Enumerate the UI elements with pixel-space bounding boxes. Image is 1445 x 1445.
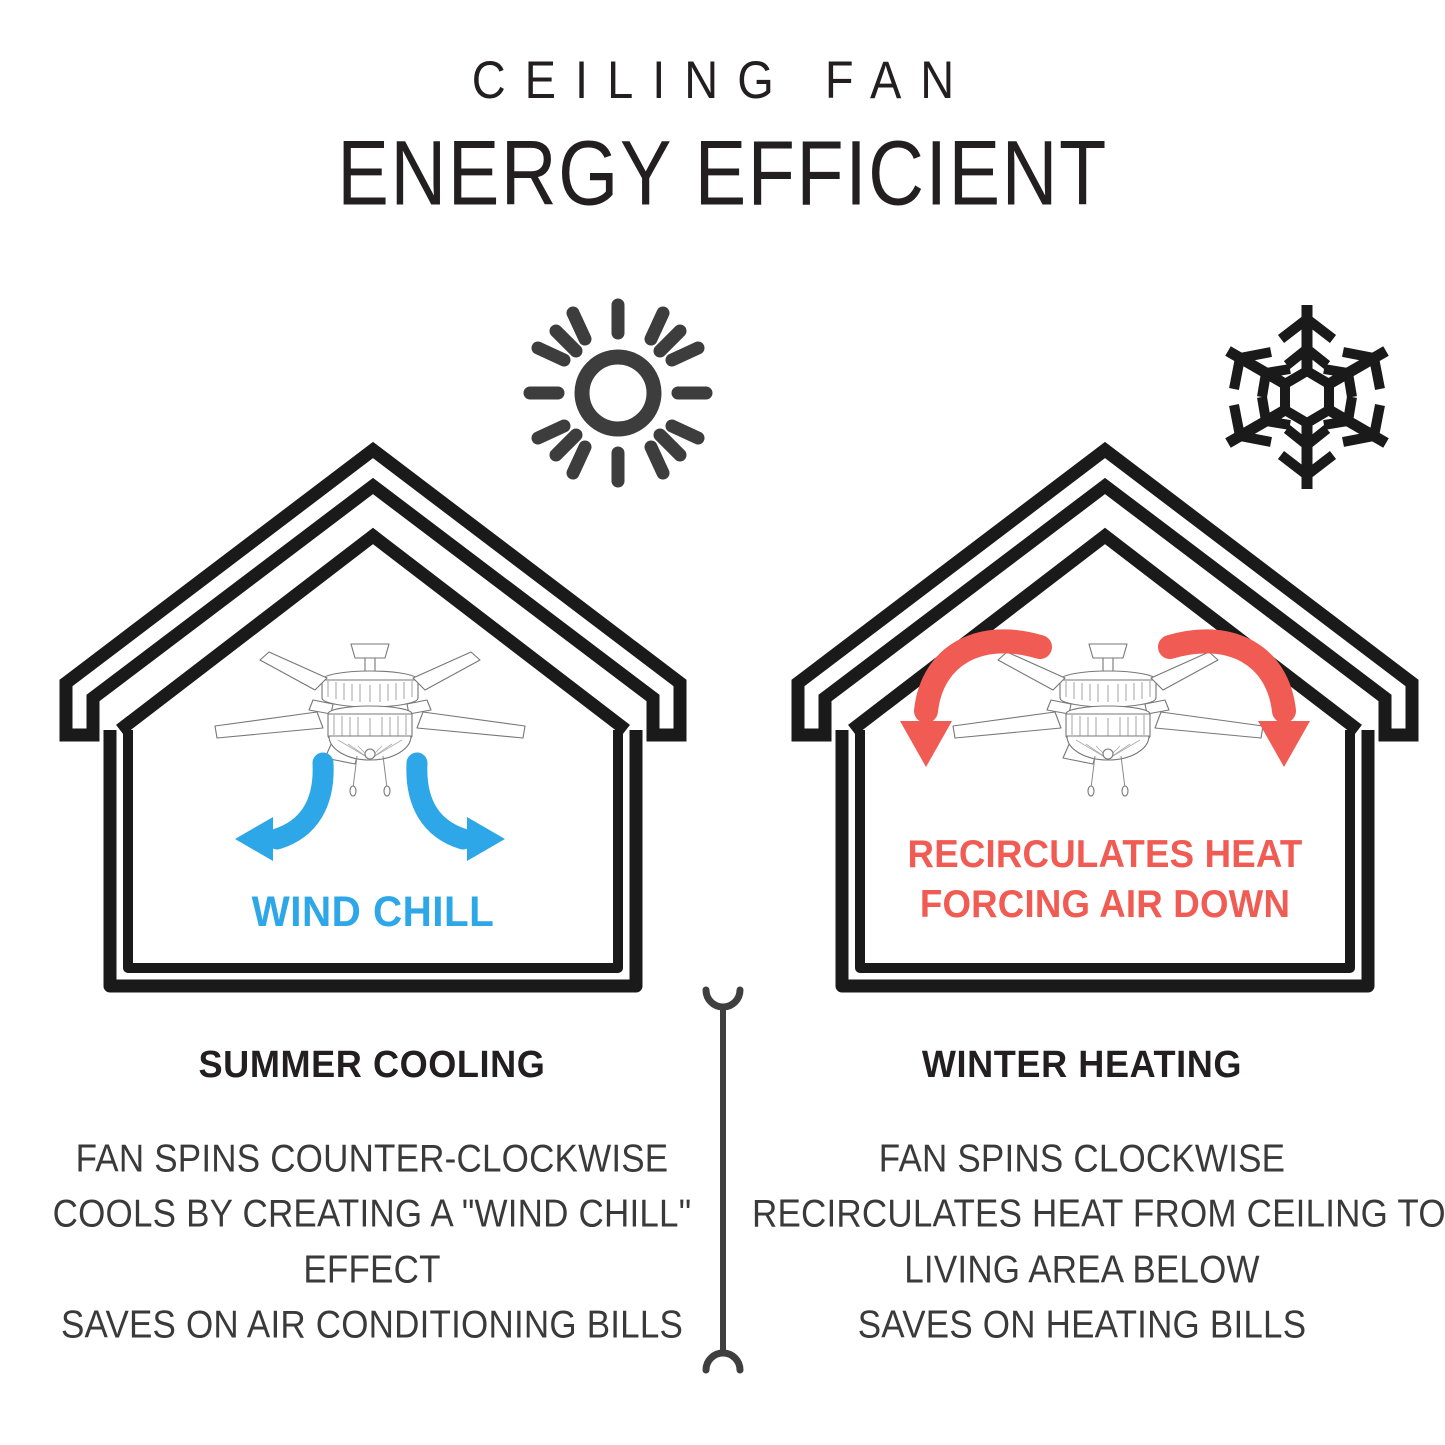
winter-body-line-1: FAN SPINS CLOCKWISE: [752, 1132, 1412, 1187]
summer-body-line-3: EFFECT: [42, 1243, 702, 1298]
winter-body-line-4: SAVES ON HEATING BILLS: [752, 1298, 1412, 1353]
winter-column-body: FAN SPINS CLOCKWISE RECIRCULATES HEAT FR…: [752, 1132, 1412, 1354]
vertical-divider: [694, 980, 752, 1380]
page-title: ENERGY EFFICIENT: [14, 127, 1430, 219]
summer-column-body: FAN SPINS COUNTER-CLOCKWISE COOLS BY CRE…: [42, 1132, 702, 1354]
airflow-arrows-summer: [205, 755, 535, 880]
header: CEILING FAN ENERGY EFFICIENT: [0, 52, 1445, 206]
recirculates-heat-line-1: RECIRCULATES HEAT: [908, 833, 1303, 876]
summer-body-line-2: COOLS BY CREATING A "WIND CHILL": [42, 1187, 702, 1242]
wind-chill-label: WIND CHILL: [77, 888, 669, 937]
recirculates-heat-label: RECIRCULATES HEAT FORCING AIR DOWN: [809, 833, 1401, 927]
recirculates-heat-line-2: FORCING AIR DOWN: [809, 883, 1401, 927]
winter-body-line-2: RECIRCULATES HEAT FROM CEILING TO: [752, 1187, 1412, 1242]
winter-body-line-3: LIVING AREA BELOW: [752, 1243, 1412, 1298]
airflow-arrows-winter: [880, 625, 1330, 785]
winter-column: WINTER HEATING FAN SPINS CLOCKWISE RECIR…: [752, 1046, 1412, 1334]
winter-column-title: WINTER HEATING: [769, 1046, 1396, 1084]
summer-column: SUMMER COOLING FAN SPINS COUNTER-CLOCKWI…: [42, 1046, 702, 1334]
infographic-page: CEILING FAN ENERGY EFFICIENT: [0, 0, 1445, 1445]
summer-body-line-4: SAVES ON AIR CONDITIONING BILLS: [42, 1298, 702, 1353]
summer-body-line-1: FAN SPINS COUNTER-CLOCKWISE: [42, 1132, 702, 1187]
eyebrow-title: CEILING FAN: [0, 52, 1445, 107]
summer-column-title: SUMMER COOLING: [59, 1046, 686, 1084]
